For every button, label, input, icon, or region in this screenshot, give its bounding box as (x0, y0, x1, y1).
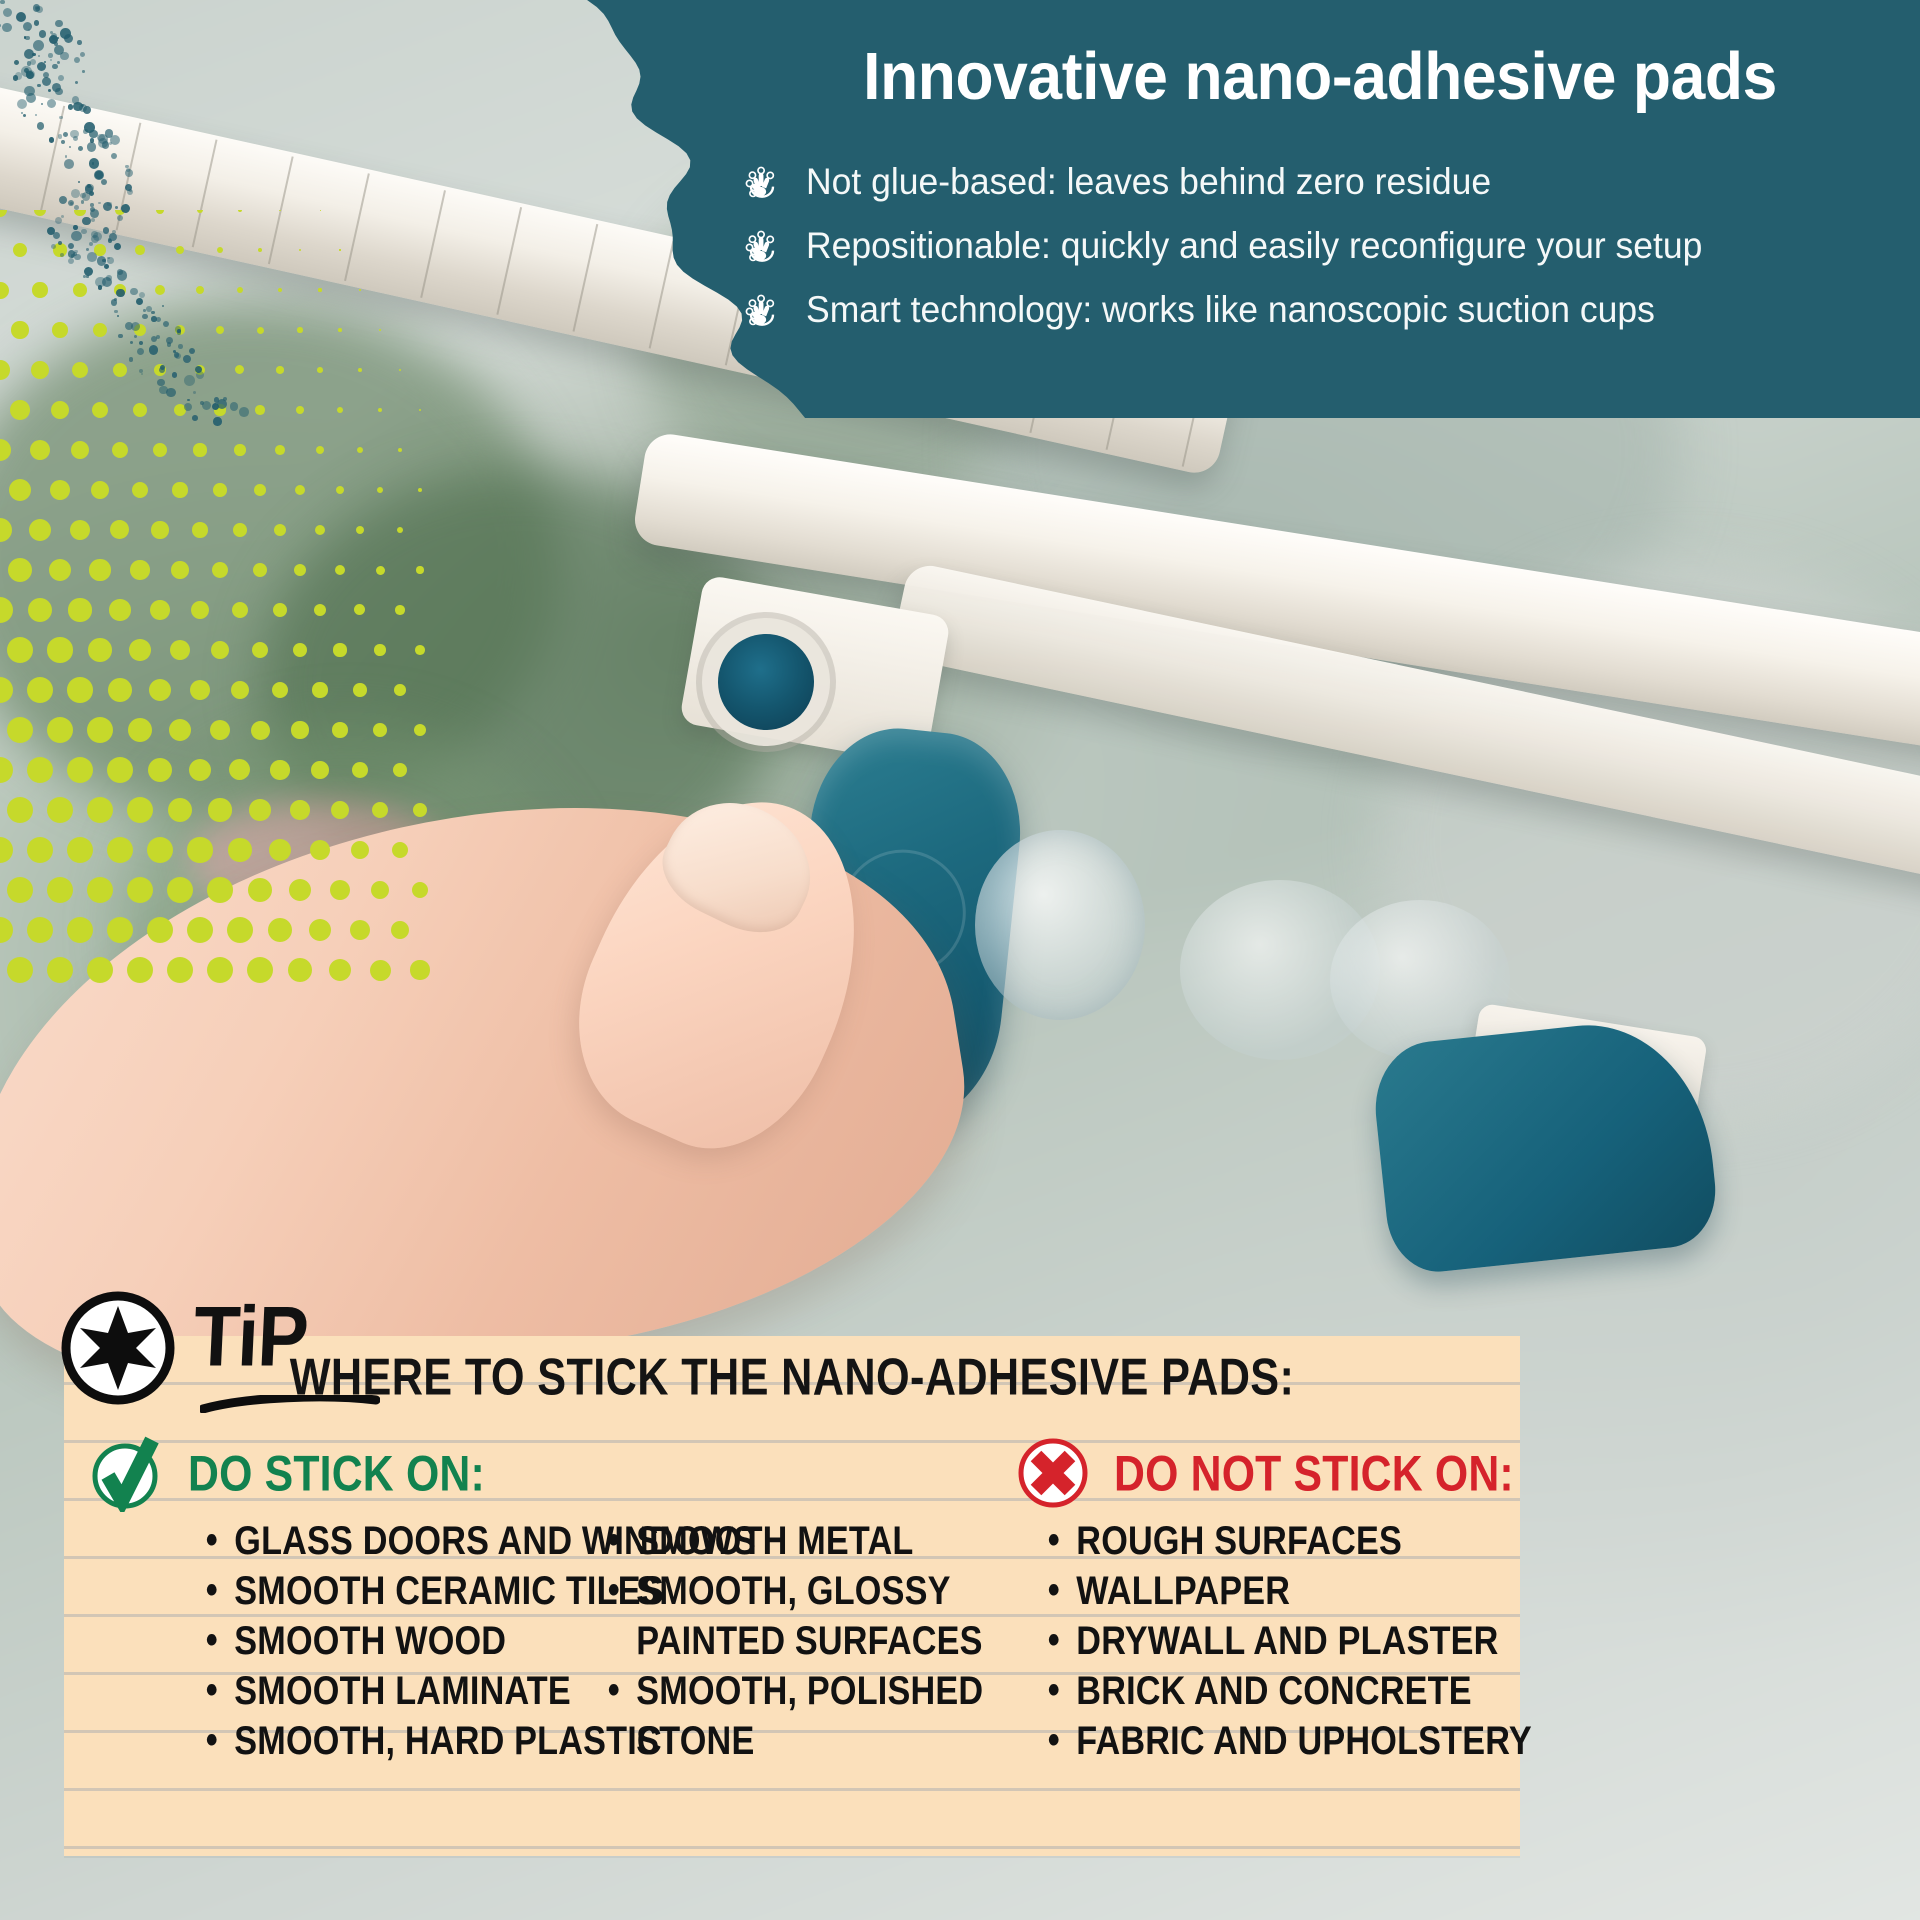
halftone-dot (47, 957, 73, 983)
feature-bullet-item: Repositionable: quickly and easily recon… (740, 214, 1920, 278)
halftone-dot (268, 918, 292, 942)
halftone-dot (67, 757, 93, 783)
halftone-dot (372, 802, 388, 818)
feature-bullet-item: Not glue-based: leaves behind zero resid… (740, 150, 1920, 214)
nano-paw-icon (740, 288, 784, 332)
list-item: GLASS DOORS AND WINDOWS (202, 1514, 555, 1569)
halftone-dot (351, 841, 369, 859)
halftone-dot (295, 485, 305, 495)
list-item: BRICK AND CONCRETE (1044, 1664, 1496, 1719)
do-stick-list-b: SMOOTH METAL SMOOTH, GLOSSY PAINTED SURF… (574, 1516, 1004, 1766)
halftone-dot (318, 288, 321, 291)
halftone-dot (350, 920, 371, 941)
halftone-dot (379, 329, 381, 331)
halftone-dot (71, 441, 89, 459)
halftone-dot (252, 642, 269, 659)
halftone-dot (257, 327, 264, 334)
rail-segment-line (39, 106, 65, 214)
halftone-dot (336, 486, 344, 494)
halftone-dot (339, 249, 340, 250)
halftone-dot (330, 880, 350, 900)
list-item: SMOOTH, GLOSSY (604, 1564, 984, 1619)
halftone-dot (174, 404, 187, 417)
list-item: SMOOTH, HARD PLASTIC (202, 1714, 555, 1769)
halftone-dot (294, 564, 306, 576)
halftone-dot (167, 957, 193, 983)
halftone-dot (253, 563, 267, 577)
halftone-dot (394, 684, 406, 696)
halftone-dot (53, 243, 66, 256)
halftone-dot (227, 917, 253, 943)
halftone-dot (176, 246, 184, 254)
list-item-continuation: PAINTED SURFACES (604, 1614, 984, 1669)
do-stick-label: DO STICK ON: (188, 1444, 485, 1502)
halftone-dot (337, 407, 343, 413)
halftone-dot (0, 439, 11, 461)
halftone-dot (107, 757, 133, 783)
halftone-dot (317, 367, 323, 373)
halftone-dot (187, 837, 212, 862)
halftone-dot (154, 364, 167, 377)
halftone-dot (228, 838, 251, 861)
halftone-dot (130, 560, 149, 579)
red-x-circle-icon (1014, 1434, 1092, 1512)
halftone-dot (113, 363, 127, 377)
halftone-dot (13, 243, 28, 258)
halftone-dot (352, 762, 368, 778)
halftone-dot (0, 597, 13, 623)
halftone-dot (234, 444, 245, 455)
tip-label: TiP (191, 1288, 309, 1385)
halftone-dot (290, 800, 310, 820)
halftone-dot (51, 401, 69, 419)
halftone-dot (288, 958, 312, 982)
halftone-dot (238, 210, 242, 212)
halftone-dot (27, 677, 53, 703)
halftone-dot (258, 248, 263, 253)
halftone-dot (50, 480, 70, 500)
halftone-dot (134, 324, 146, 336)
halftone-dot (269, 839, 291, 861)
halftone-dot (299, 249, 302, 252)
halftone-dot (32, 282, 47, 297)
halftone-dot (232, 602, 248, 618)
do-stick-list-a: GLASS DOORS AND WINDOWS SMOOTH CERAMIC T… (64, 1516, 574, 1766)
halftone-dot (7, 877, 33, 903)
halftone-dot (391, 921, 410, 940)
halftone-dot (7, 957, 33, 983)
halftone-dot (170, 640, 190, 660)
halftone-dot (312, 682, 327, 697)
halftone-dot (356, 526, 365, 535)
halftone-dot (192, 522, 208, 538)
halftone-dot (333, 643, 346, 656)
halftone-dot (248, 878, 272, 902)
halftone-dot (27, 917, 53, 943)
feature-bullet-text: Smart technology: works like nanoscopic … (806, 290, 1655, 331)
halftone-dot (249, 799, 270, 820)
halftone-dot (52, 322, 68, 338)
feature-bullet-list: Not glue-based: leaves behind zero resid… (740, 150, 1920, 342)
halftone-dot (168, 798, 193, 823)
halftone-dot (414, 724, 426, 736)
halftone-dot (374, 644, 385, 655)
green-check-circle-icon (88, 1434, 166, 1512)
halftone-dot (0, 757, 13, 783)
list-item: DRYWALL AND PLASTER (1044, 1614, 1496, 1669)
halftone-dot (87, 957, 113, 983)
halftone-dot (67, 677, 93, 703)
halftone-dot (392, 842, 409, 859)
halftone-dot (247, 957, 273, 983)
halftone-dot (108, 678, 132, 702)
infographic-canvas: Innovative nano-adhesive pads (0, 0, 1920, 1920)
halftone-dot (316, 446, 324, 454)
halftone-dot (274, 524, 286, 536)
halftone-dot (235, 365, 244, 374)
halftone-dot (156, 210, 164, 214)
halftone-dot (354, 604, 365, 615)
halftone-dot (270, 760, 289, 779)
halftone-dot (359, 289, 360, 290)
halftone-dot (357, 447, 363, 453)
halftone-dot (87, 877, 113, 903)
halftone-dot (110, 520, 129, 539)
halftone-dot (376, 566, 385, 575)
do-not-stick-column: DO NOT STICK ON: ROUGH SURFACES WALLPAPE… (1004, 1430, 1520, 1860)
halftone-dot (30, 440, 50, 460)
halftone-dot (73, 283, 87, 297)
halftone-dot (413, 803, 427, 817)
halftone-dot (293, 643, 308, 658)
halftone-dot (378, 408, 382, 412)
halftone-dot (47, 717, 73, 743)
halftone-dot (207, 877, 233, 903)
list-item: SMOOTH, POLISHED (604, 1664, 984, 1719)
halftone-dot (93, 323, 107, 337)
do-not-stick-list: ROUGH SURFACES WALLPAPER DRYWALL AND PLA… (1004, 1516, 1520, 1766)
halftone-dot (315, 525, 325, 535)
halftone-dot (216, 326, 225, 335)
page-title: Innovative nano-adhesive pads (799, 42, 1841, 112)
halftone-dot (169, 719, 191, 741)
header-content: Innovative nano-adhesive pads (560, 0, 1920, 418)
halftone-dot (133, 403, 148, 418)
halftone-dot (87, 797, 113, 823)
halftone-dot (28, 598, 53, 623)
halftone-dot (289, 879, 311, 901)
halftone-dot (67, 837, 93, 863)
list-item: SMOOTH WOOD (202, 1614, 555, 1669)
halftone-dot (190, 680, 210, 700)
halftone-dot (195, 365, 206, 376)
halftone-dot (67, 917, 93, 943)
halftone-dot (72, 362, 88, 378)
halftone-dot (128, 718, 152, 742)
halftone-dot (0, 677, 13, 703)
halftone-dot (310, 840, 330, 860)
halftone-dot (91, 481, 110, 500)
halftone-dot (196, 286, 204, 294)
halftone-dot (155, 285, 165, 295)
halftone-dot (213, 483, 227, 497)
list-item-continuation: STONE (604, 1714, 984, 1769)
halftone-dot (187, 917, 213, 943)
halftone-dot (147, 837, 173, 863)
halftone-dot (279, 210, 282, 211)
halftone-dot (0, 837, 13, 863)
halftone-dot (172, 482, 187, 497)
suction-cup (975, 830, 1145, 1020)
list-item: ROUGH SURFACES (1044, 1514, 1496, 1569)
halftone-dot (94, 244, 106, 256)
halftone-dot (338, 328, 342, 332)
halftone-dot (9, 479, 31, 501)
halftone-dot (251, 721, 270, 740)
halftone-dot (87, 717, 113, 743)
halftone-dot (314, 604, 327, 617)
halftone-dot (10, 400, 30, 420)
halftone-dot (127, 957, 153, 983)
halftone-dot (0, 282, 9, 299)
halftone-dot (127, 797, 153, 823)
halftone-dot (11, 321, 28, 338)
halftone-dot (0, 917, 13, 943)
halftone-dot (7, 797, 33, 823)
tip-underline (200, 1395, 380, 1413)
halftone-dot (419, 409, 421, 411)
halftone-dot (7, 717, 33, 743)
halftone-dot (0, 210, 7, 217)
do-not-stick-header: DO NOT STICK ON: (1004, 1430, 1520, 1516)
halftone-dot (276, 366, 283, 373)
do-not-stick-label: DO NOT STICK ON: (1114, 1444, 1514, 1502)
halftone-dot (31, 361, 49, 379)
halftone-dot (89, 559, 110, 580)
halftone-dot (193, 443, 206, 456)
halftone-dot (34, 210, 47, 216)
halftone-dot (109, 599, 130, 620)
halftone-dot (278, 288, 283, 293)
halftone-dot (214, 404, 225, 415)
do-stick-header: DO STICK ON: (64, 1430, 1004, 1516)
halftone-dot (398, 448, 403, 453)
halftone-dot (47, 797, 73, 823)
halftone-dot (353, 683, 366, 696)
halftone-dot (27, 757, 53, 783)
halftone-dot (92, 402, 108, 418)
halftone-dot (311, 761, 329, 779)
halftone-dot (68, 598, 91, 621)
halftone-dot (29, 519, 52, 542)
halftone-dot (49, 559, 72, 582)
halftone-dot (207, 957, 233, 983)
halftone-dot (255, 405, 264, 414)
halftone-dot (331, 801, 349, 819)
halftone-dot (410, 960, 429, 979)
halftone-dot (275, 445, 285, 455)
halftone-dot (148, 758, 173, 783)
list-item: FABRIC AND UPHOLSTERY (1044, 1714, 1496, 1769)
halftone-dot (399, 369, 401, 371)
halftone-dot (395, 605, 404, 614)
feature-bullet-item: Smart technology: works like nanoscopic … (740, 278, 1920, 342)
halftone-dot (335, 565, 346, 576)
halftone-dot (273, 603, 288, 618)
halftone-dot (167, 877, 193, 903)
halftone-dot (112, 442, 129, 459)
halftone-dot (0, 518, 12, 542)
halftone-dot (377, 487, 384, 494)
halftone-dot (397, 527, 404, 534)
halftone-dot (231, 681, 250, 700)
six-point-star-icon (58, 1288, 178, 1408)
halftone-dot (114, 284, 126, 296)
halftone-dot (297, 327, 302, 332)
list-item: SMOOTH LAMINATE (202, 1664, 555, 1719)
halftone-dot (107, 917, 133, 943)
list-item: SMOOTH METAL (604, 1514, 984, 1569)
halftone-dot (197, 210, 203, 213)
halftone-dot (0, 360, 10, 379)
halftone-dot (371, 881, 390, 900)
tip-columns: DO STICK ON: GLASS DOORS AND WINDOWS SMO… (64, 1430, 1520, 1860)
halftone-dot (296, 406, 304, 414)
halftone-dot (233, 523, 247, 537)
do-stick-column: DO STICK ON: GLASS DOORS AND WINDOWS SMO… (64, 1430, 1004, 1860)
halftone-dot (127, 877, 153, 903)
halftone-dot (332, 722, 348, 738)
halftone-dot (132, 482, 149, 499)
halftone-dot (151, 521, 168, 538)
halftone-dot (147, 917, 173, 943)
feature-bullet-text: Repositionable: quickly and easily recon… (806, 226, 1702, 267)
halftone-dot (229, 759, 250, 780)
halftone-dot (254, 484, 266, 496)
halftone-dot (211, 641, 229, 659)
halftone-dot (189, 759, 212, 782)
halftone-dot (88, 638, 112, 662)
halftone-dot (237, 287, 244, 294)
halftone-dot (291, 721, 308, 738)
halftone-dot (191, 601, 209, 619)
halftone-dot (370, 960, 391, 981)
do-stick-lists: GLASS DOORS AND WINDOWS SMOOTH CERAMIC T… (64, 1516, 1004, 1766)
halftone-dot (8, 558, 33, 583)
halftone-dot (27, 837, 53, 863)
halftone-dot (74, 210, 85, 216)
halftone-dot (171, 561, 189, 579)
halftone-dot (418, 488, 423, 493)
halftone-dot (416, 566, 423, 573)
halftone-dot (208, 798, 231, 821)
halftone-dot (150, 600, 170, 620)
halftone-dot (373, 723, 387, 737)
halftone-dot (129, 639, 151, 661)
rail-segment-line (496, 207, 522, 315)
list-item: WALLPAPER (1044, 1564, 1496, 1619)
halftone-dot (47, 877, 73, 903)
halftone-dot (217, 247, 223, 253)
halftone-dot (70, 520, 91, 541)
feature-bullet-text: Not glue-based: leaves behind zero resid… (806, 162, 1491, 203)
halftone-dot (212, 562, 228, 578)
halftone-dot (309, 919, 331, 941)
halftone-dot (7, 637, 33, 663)
halftone-dot (393, 763, 407, 777)
nano-paw-icon (740, 160, 784, 204)
list-item: SMOOTH CERAMIC TILES (202, 1564, 555, 1619)
halftone-dot (47, 637, 72, 662)
halftone-dot (415, 645, 425, 655)
halftone-dot (412, 882, 429, 899)
nano-paw-icon (740, 224, 784, 268)
halftone-dot (329, 959, 352, 982)
green-halftone-pattern (0, 210, 430, 990)
halftone-dot (175, 325, 185, 335)
halftone-dot (149, 679, 171, 701)
halftone-dot (358, 368, 362, 372)
halftone-dot (153, 443, 168, 458)
halftone-dot (107, 837, 133, 863)
halftone-dot (272, 682, 289, 699)
halftone-dot (135, 245, 145, 255)
halftone-dot (210, 720, 231, 741)
halftone-dot (115, 210, 124, 215)
